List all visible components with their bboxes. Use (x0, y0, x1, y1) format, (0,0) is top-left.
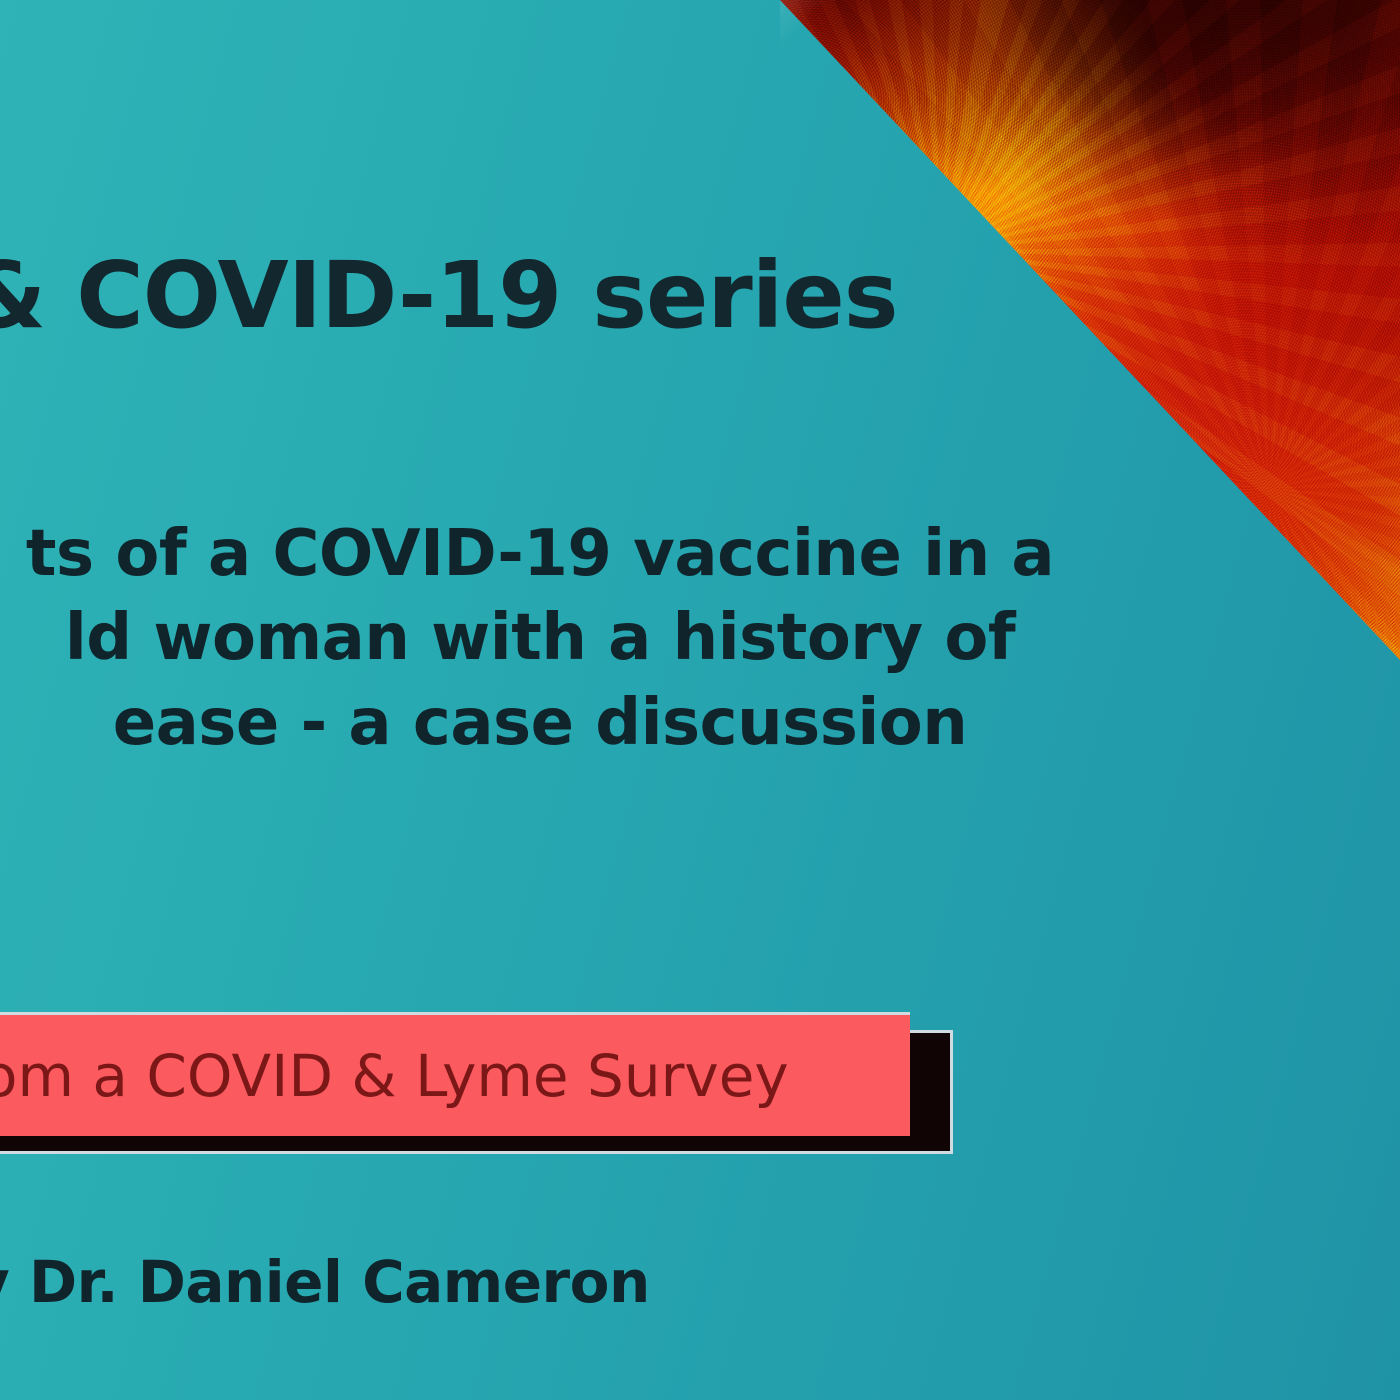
episode-title: ts of a COVID-19 vaccine in a ld woman w… (0, 512, 1110, 765)
episode-title-line-2: ld woman with a history of (0, 596, 1110, 680)
episode-title-line-3: ease - a case discussion (0, 681, 1110, 765)
survey-banner: om a COVID & Lyme Survey (0, 1012, 935, 1158)
survey-banner-fill: om a COVID & Lyme Survey (0, 1012, 910, 1136)
survey-banner-label: om a COVID & Lyme Survey (0, 1042, 789, 1110)
series-title: & COVID-19 series (0, 248, 966, 345)
podcast-cover: & COVID-19 series ts of a COVID-19 vacci… (0, 0, 1400, 1400)
author-byline: y Dr. Daniel Cameron (0, 1248, 872, 1316)
episode-title-line-1: ts of a COVID-19 vaccine in a (0, 512, 1110, 596)
